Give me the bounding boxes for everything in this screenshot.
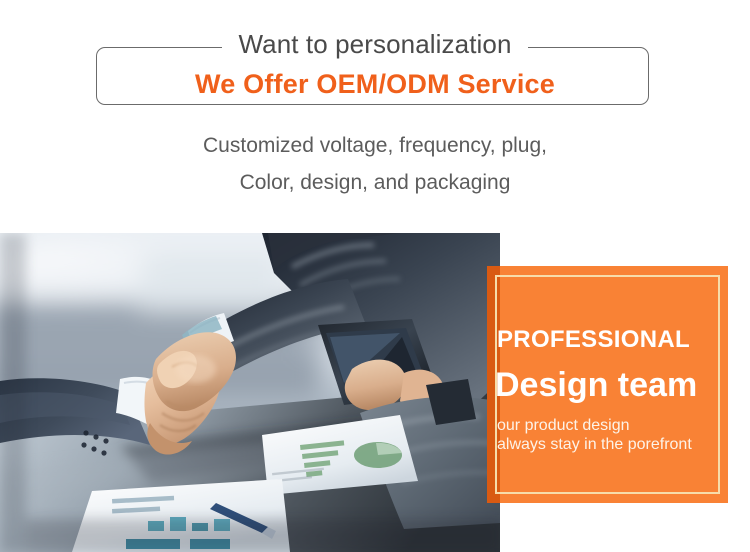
handshake-photo-artwork [0,233,500,552]
callout-content: PROFESSIONAL Design team our product des… [497,266,718,503]
callout-subtext-line-1: our product design [497,416,692,435]
subline-two: Color, design, and packaging [0,172,750,193]
header-section: Want to personalization We Offer OEM/ODM… [0,0,750,233]
callout-subtext: our product design always stay in the po… [497,416,692,454]
callout-subtext-line-2: always stay in the porefront [497,435,692,454]
subline-one: Customized voltage, frequency, plug, [0,135,750,156]
headline-main-text: We Offer OEM/ODM Service [0,71,750,98]
design-team-callout: PROFESSIONAL Design team our product des… [487,266,728,503]
callout-title: Design team [495,368,697,402]
callout-eyebrow: PROFESSIONAL [497,328,690,352]
handshake-photo [0,233,500,552]
promo-banner: Want to personalization We Offer OEM/ODM… [0,0,750,552]
